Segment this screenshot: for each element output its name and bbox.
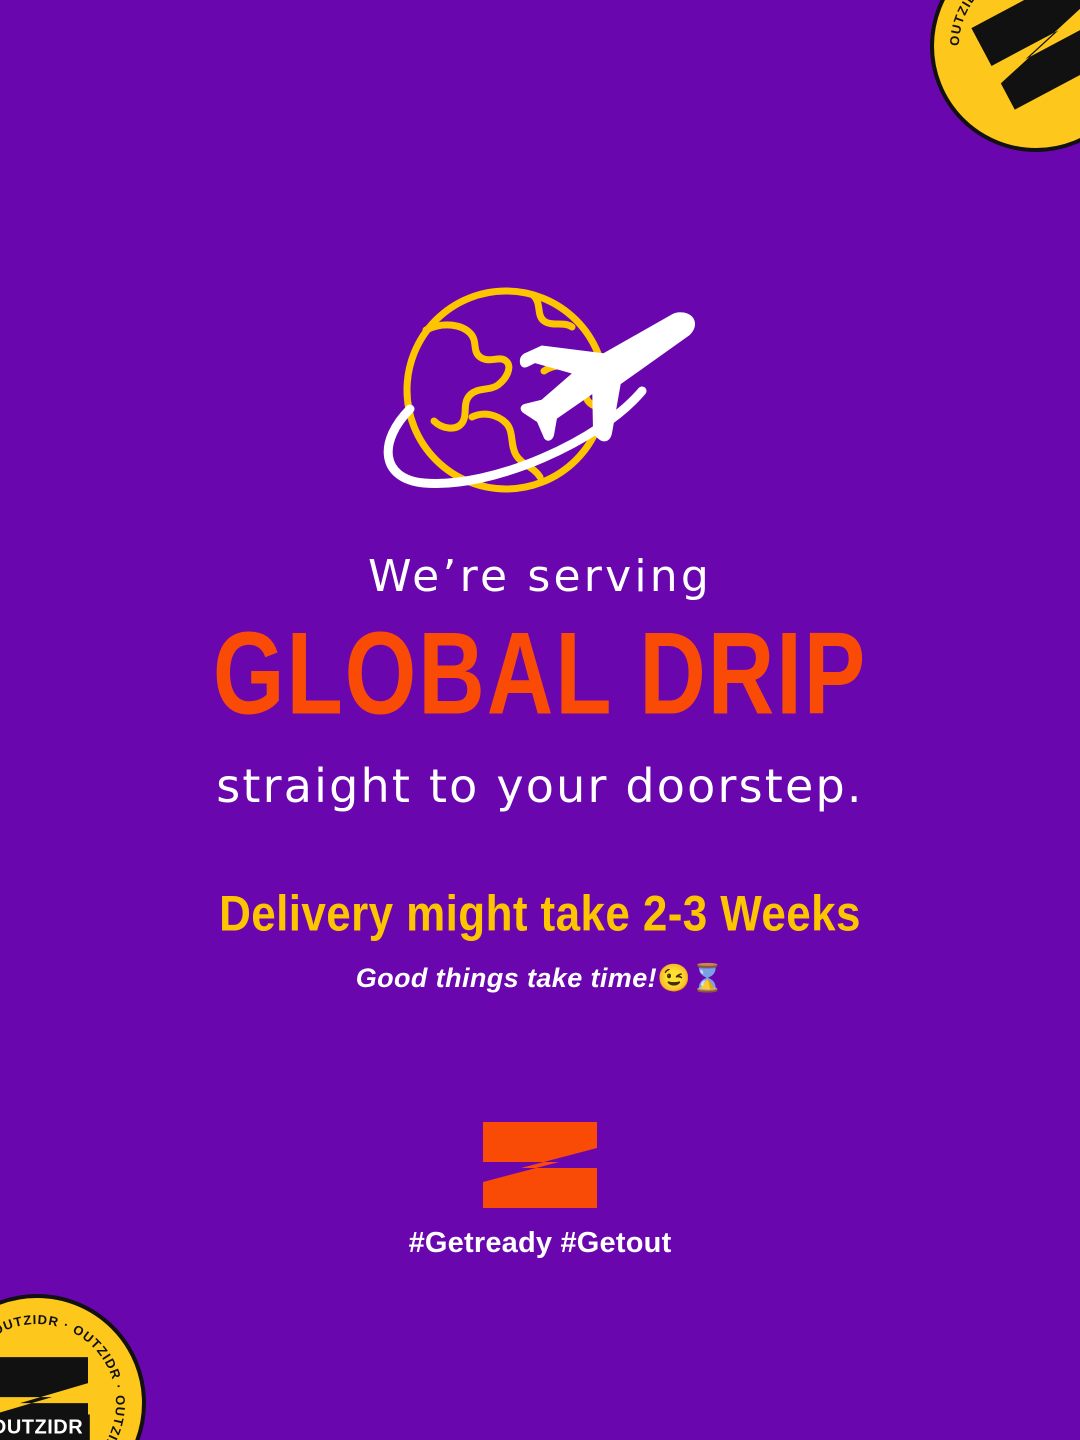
airplane-shape (515, 311, 703, 447)
tagline-emoji: 😉⌛ (657, 963, 724, 993)
hashtags-text: #Getready #Getout (0, 1227, 1080, 1260)
footer-brand: #Getready #Getout (0, 1122, 1080, 1260)
eyebrow-text: We’re serving (0, 552, 1080, 601)
outzidr-seal-bottom-left: OUTZIDR · OUTZIDR · OUTZIDR · OUTZIDR · … (0, 1294, 146, 1440)
outzidr-z-logo (479, 1122, 601, 1208)
outzidr-seal-top-right: OUTZIDR · OUTZIDR · OUTZIDR · OUTZIDR · (930, 0, 1080, 152)
tagline-label: Good things take time! (356, 963, 657, 993)
globe-airplane-icon (366, 283, 714, 507)
seal-wordmark-bottom-left: OUTZIDR (0, 1415, 90, 1440)
delivery-note-text: Delivery might take 2-3 Weeks (0, 886, 1080, 942)
seal-z-mark-top-right (964, 0, 1080, 119)
copy-block: We’re serving GLOBAL DRIP straight to yo… (0, 552, 1080, 994)
subhead-text: straight to your doorstep. (0, 761, 1080, 813)
headline-text: GLOBAL DRIP (22, 611, 1059, 737)
tagline-text: Good things take time!😉⌛ (0, 962, 1080, 994)
promo-poster: OUTZIDR · OUTZIDR · OUTZIDR · OUTZIDR · (0, 0, 1080, 1440)
